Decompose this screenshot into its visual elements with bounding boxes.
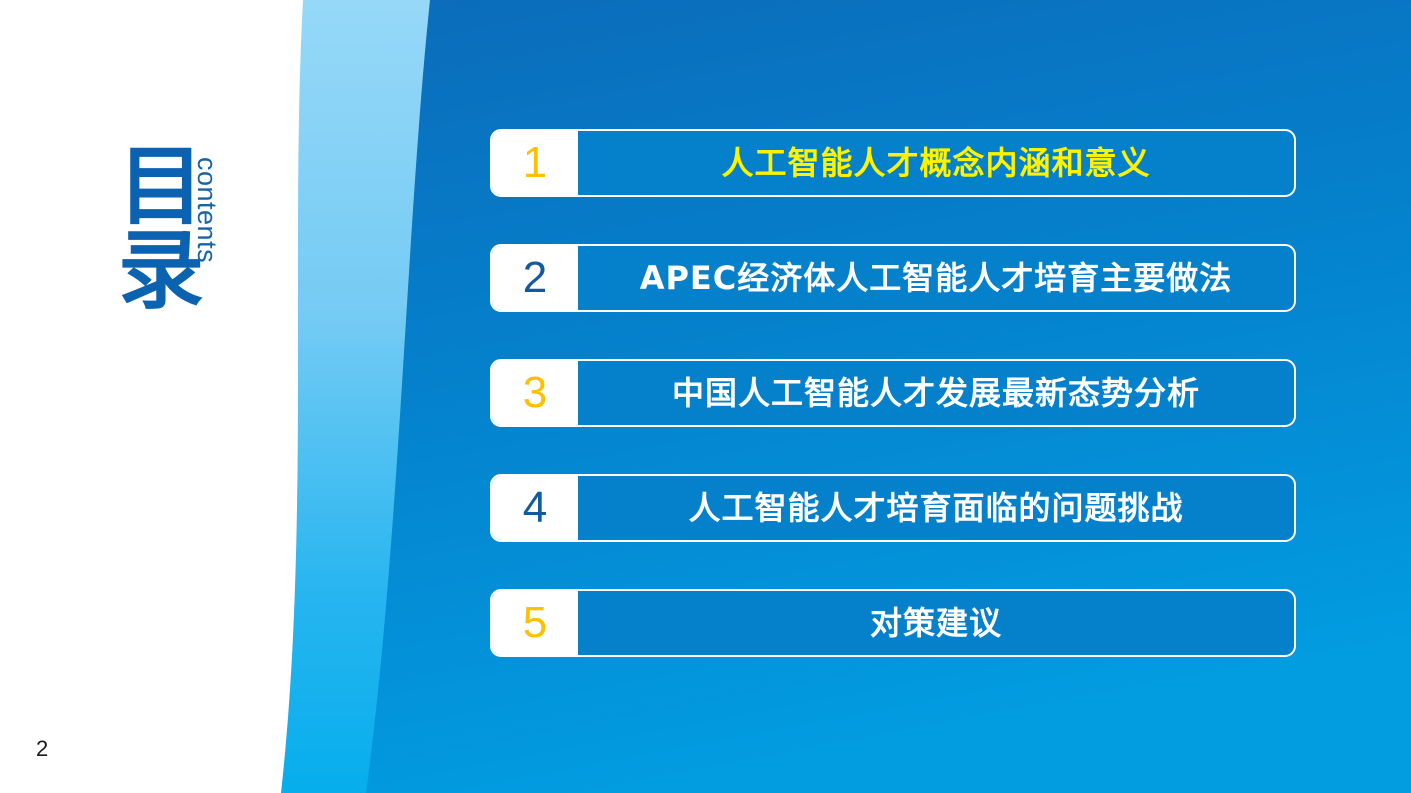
contents-item-4-label-box: 人工智能人才培育面临的问题挑战: [578, 476, 1294, 540]
contents-item-2-number: 2: [523, 256, 547, 300]
contents-item-3-number-box: 3: [492, 361, 578, 425]
contents-item-3-number: 3: [523, 371, 547, 415]
contents-item-1-number-box: 1: [492, 131, 578, 195]
contents-item-3[interactable]: 3 中国人工智能人才发展最新态势分析: [490, 359, 1296, 427]
contents-item-5-label: 对策建议: [870, 607, 1002, 639]
slide-title-block: 目 录 contents: [118, 145, 278, 345]
contents-item-4-number-box: 4: [492, 476, 578, 540]
page-title-en: contents: [191, 157, 222, 263]
contents-item-4[interactable]: 4 人工智能人才培育面临的问题挑战: [490, 474, 1296, 542]
contents-item-2[interactable]: 2 APEC经济体人工智能人才培育主要做法: [490, 244, 1296, 312]
page-number: 2: [36, 736, 48, 762]
contents-item-1-label: 人工智能人才概念内涵和意义: [721, 147, 1150, 179]
contents-item-5-number-box: 5: [492, 591, 578, 655]
contents-item-2-label: APEC经济体人工智能人才培育主要做法: [640, 262, 1233, 294]
contents-item-4-number: 4: [523, 486, 547, 530]
presentation-slide: 目 录 contents 1 人工智能人才概念内涵和意义 2 APEC经济体人工…: [0, 0, 1411, 793]
contents-item-3-label-box: 中国人工智能人才发展最新态势分析: [578, 361, 1294, 425]
contents-item-2-label-box: APEC经济体人工智能人才培育主要做法: [578, 246, 1294, 310]
contents-item-1-label-box: 人工智能人才概念内涵和意义: [578, 131, 1294, 195]
contents-item-3-label: 中国人工智能人才发展最新态势分析: [672, 377, 1200, 409]
contents-item-1-number: 1: [523, 141, 547, 185]
contents-item-5[interactable]: 5 对策建议: [490, 589, 1296, 657]
page-title-en-wrapper: contents: [222, 157, 262, 317]
contents-item-1[interactable]: 1 人工智能人才概念内涵和意义: [490, 129, 1296, 197]
contents-item-4-label: 人工智能人才培育面临的问题挑战: [688, 492, 1183, 524]
contents-list: 1 人工智能人才概念内涵和意义 2 APEC经济体人工智能人才培育主要做法 3 …: [490, 129, 1296, 657]
contents-item-5-label-box: 对策建议: [578, 591, 1294, 655]
contents-item-2-number-box: 2: [492, 246, 578, 310]
contents-item-5-number: 5: [523, 601, 547, 645]
